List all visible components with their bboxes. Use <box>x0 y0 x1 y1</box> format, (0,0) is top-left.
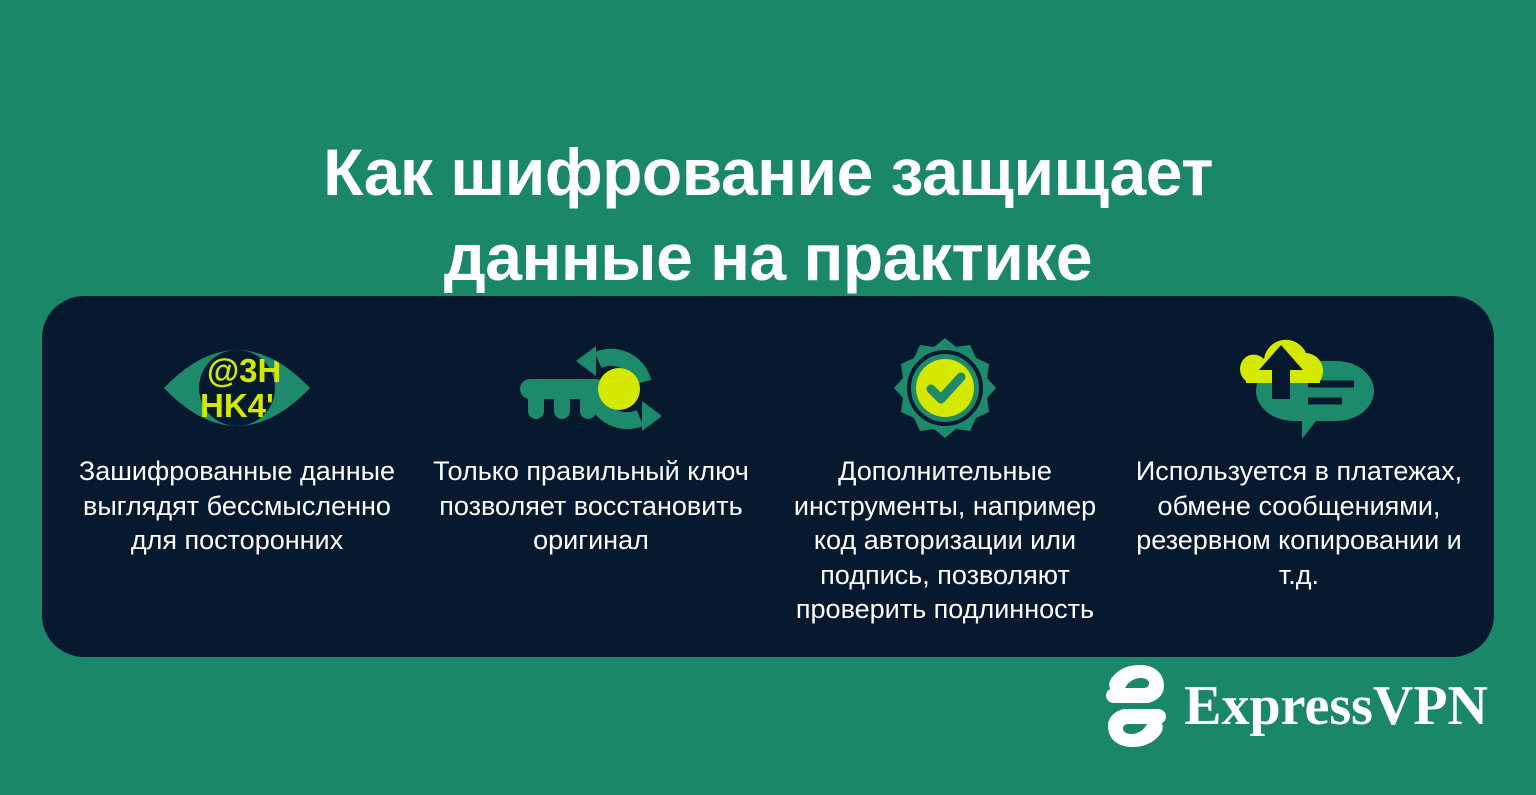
expressvpn-wordmark: ExpressVPN <box>1184 678 1488 734</box>
feature-column-authenticity: Дополнительные инструменты, например код… <box>768 330 1122 627</box>
expressvpn-e-mark-icon <box>1106 665 1166 747</box>
cipher-text-top: @3H <box>207 352 281 389</box>
feature-text: Только правильный ключ позволяет восстан… <box>426 454 756 558</box>
features-card: @3H HK4' Зашифрованные данные выглядят б… <box>42 296 1494 657</box>
cipher-text-bottom: HK4' <box>200 387 274 424</box>
verified-badge-check-icon <box>893 330 997 446</box>
feature-text: Зашифрованные данные выглядят бессмыслен… <box>72 454 402 558</box>
feature-text: Дополнительные инструменты, например код… <box>774 454 1116 627</box>
feature-text: Используется в платежах, обмене сообщени… <box>1134 454 1464 592</box>
feature-column-use-cases: Используется в платежах, обмене сообщени… <box>1122 330 1476 592</box>
encrypted-eye-icon: @3H HK4' <box>162 330 312 446</box>
page-title: Как шифрование защищает данные на практи… <box>178 130 1358 299</box>
expressvpn-logo: ExpressVPN <box>1106 665 1488 747</box>
cloud-upload-message-icon <box>1224 330 1374 446</box>
feature-column-correct-key: Только правильный ключ позволяет восстан… <box>414 330 768 558</box>
key-rotation-icon <box>514 330 669 446</box>
feature-column-encrypted-data: @3H HK4' Зашифрованные данные выглядят б… <box>60 330 414 558</box>
infographic-canvas: Как шифрование защищает данные на практи… <box>0 0 1536 795</box>
